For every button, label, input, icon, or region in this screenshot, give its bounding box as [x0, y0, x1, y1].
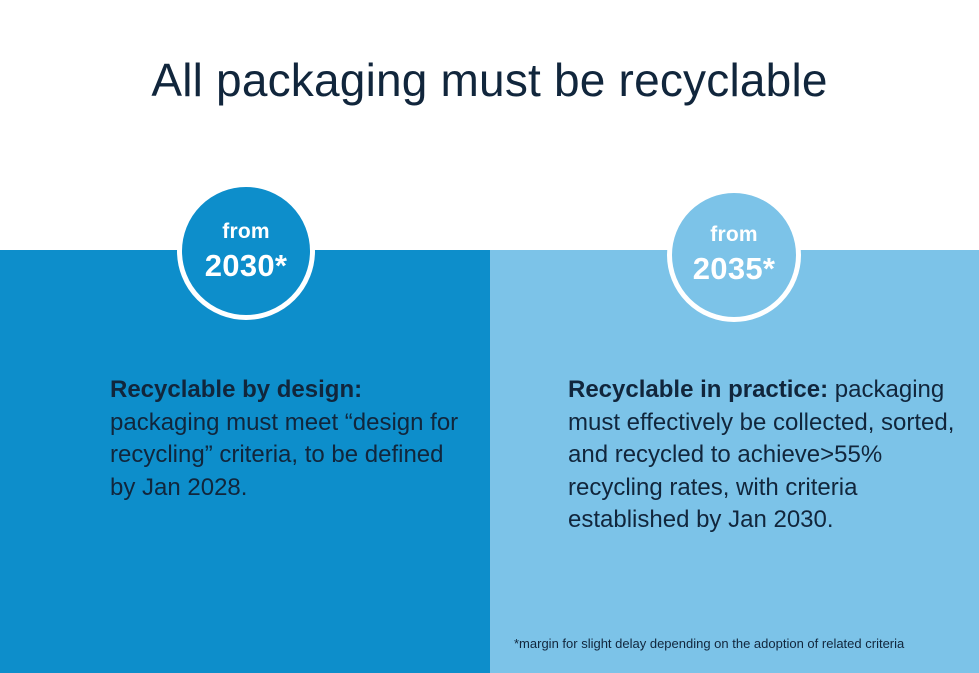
body-text-left: packaging must meet “design for recyclin… [110, 409, 458, 501]
lead-label-left: Recyclable by design: [110, 376, 362, 403]
text-block-right: Recyclable in practice: packaging must e… [568, 374, 968, 537]
badge-year-right: 2035* [672, 251, 796, 287]
lead-label-right: Recyclable in practice: [568, 376, 828, 403]
infographic-root: All packaging must be recyclable from 20… [0, 0, 979, 673]
badge-from-label-right: from [672, 223, 796, 247]
badge-circle-2030: from 2030* [177, 182, 315, 320]
footnote: *margin for slight delay depending on th… [514, 635, 964, 653]
badge-year-left: 2030* [182, 248, 310, 284]
badge-circle-2035: from 2035* [667, 188, 801, 322]
text-block-left: Recyclable by design: packaging must mee… [110, 374, 470, 504]
page-title: All packaging must be recyclable [0, 52, 979, 108]
badge-from-label-left: from [182, 220, 310, 244]
